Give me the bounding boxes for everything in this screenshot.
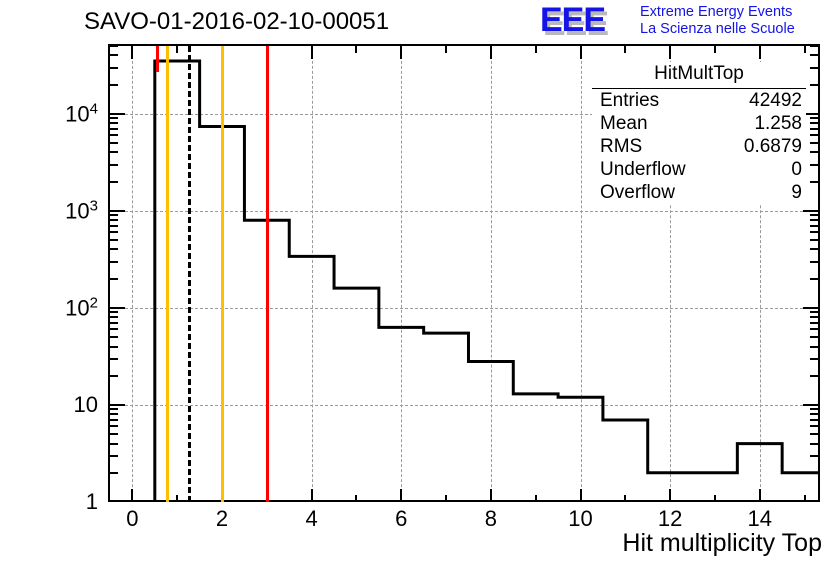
- x-axis-title: Hit multiplicity Top: [622, 529, 822, 558]
- stats-title: HitMultTop: [592, 62, 806, 89]
- stats-row-key: Underflow: [600, 158, 686, 181]
- stats-row-value: 0.6879: [744, 135, 802, 158]
- stats-row-key: Mean: [600, 112, 648, 135]
- x-tick-label: 8: [485, 506, 497, 532]
- stats-row-key: RMS: [600, 135, 642, 158]
- x-tick-label: 4: [306, 506, 318, 532]
- stats-row-value: 1.258: [754, 112, 802, 135]
- stats-row-value: 0: [791, 158, 802, 181]
- y-tick-label: 102: [0, 294, 98, 321]
- eee-logo-line1: Extreme Energy Events: [640, 4, 795, 21]
- stats-rows: Entries42492Mean1.258RMS0.6879Underflow0…: [592, 89, 806, 204]
- marker-line-orange-right: [221, 46, 224, 502]
- stats-row-key: Overflow: [600, 181, 675, 204]
- y-tick-label: 10: [0, 392, 98, 418]
- y-tick-label: 104: [0, 100, 98, 127]
- stats-row-value: 42492: [749, 89, 802, 112]
- stats-row: RMS0.6879: [592, 135, 806, 158]
- x-tick-label: 0: [126, 506, 138, 532]
- y-tick-label: 1: [0, 489, 98, 515]
- x-tick-label: 2: [216, 506, 228, 532]
- x-tick-label: 6: [395, 506, 407, 532]
- marker-line-red-left: [156, 46, 159, 72]
- stats-box: HitMultTop Entries42492Mean1.258RMS0.687…: [592, 62, 806, 204]
- y-tick-label: 103: [0, 197, 98, 224]
- stats-row-key: Entries: [600, 89, 659, 112]
- stats-row: Entries42492: [592, 89, 806, 112]
- stats-row-value: 9: [791, 181, 802, 204]
- x-tick-label: 10: [568, 506, 592, 532]
- eee-logo-text: Extreme Energy Events La Scienza nelle S…: [640, 4, 795, 38]
- eee-wordmark-icon: EEE: [540, 0, 605, 40]
- marker-line-mean-dashed: [188, 46, 191, 502]
- eee-logo-line2: La Scienza nelle Scuole: [640, 21, 795, 38]
- root-canvas: SAVO-01-2016-02-10-00051 EEE Extreme Ene…: [0, 0, 836, 572]
- marker-line-red-right: [266, 46, 269, 502]
- eee-logo: EEE Extreme Energy Events La Scienza nel…: [540, 2, 832, 42]
- stats-row: Mean1.258: [592, 112, 806, 135]
- page-title: SAVO-01-2016-02-10-00051: [84, 8, 389, 36]
- stats-row: Underflow0: [592, 158, 806, 181]
- stats-row: Overflow9: [592, 181, 806, 204]
- marker-line-orange-left: [166, 46, 169, 502]
